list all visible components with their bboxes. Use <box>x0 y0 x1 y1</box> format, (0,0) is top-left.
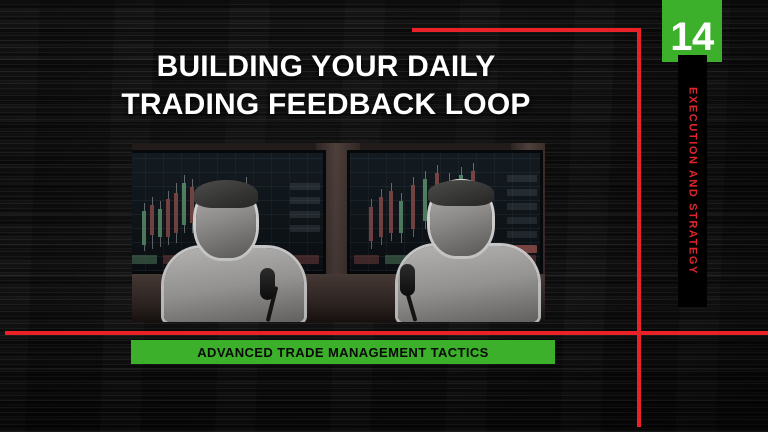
subtitle-banner: ADVANCED TRADE MANAGEMENT TACTICS <box>131 340 555 364</box>
category-strip-label: EXECUTION AND STRATEGY <box>687 87 699 275</box>
episode-number-badge: 14 <box>662 0 722 62</box>
headline-line-1: BUILDING YOUR DAILY <box>157 50 496 83</box>
page-title: BUILDING YOUR DAILY TRADING FEEDBACK LOO… <box>36 48 616 125</box>
headline-line-2: TRADING FEEDBACK LOOP <box>36 86 616 124</box>
horizontal-red-rule-top <box>412 28 640 32</box>
thumbnail-scene <box>132 143 545 322</box>
horizontal-red-rule-bottom <box>5 331 768 335</box>
subtitle-banner-label: ADVANCED TRADE MANAGEMENT TACTICS <box>197 345 489 360</box>
vertical-red-rule-upper <box>637 28 641 331</box>
category-strip: EXECUTION AND STRATEGY <box>678 55 707 307</box>
video-thumbnail[interactable] <box>132 143 545 322</box>
thumbnail-desaturate-layer <box>132 143 545 322</box>
presentation-slide: 14 EXECUTION AND STRATEGY BUILDING YOUR … <box>0 0 768 432</box>
vertical-red-rule-lower <box>637 335 641 427</box>
